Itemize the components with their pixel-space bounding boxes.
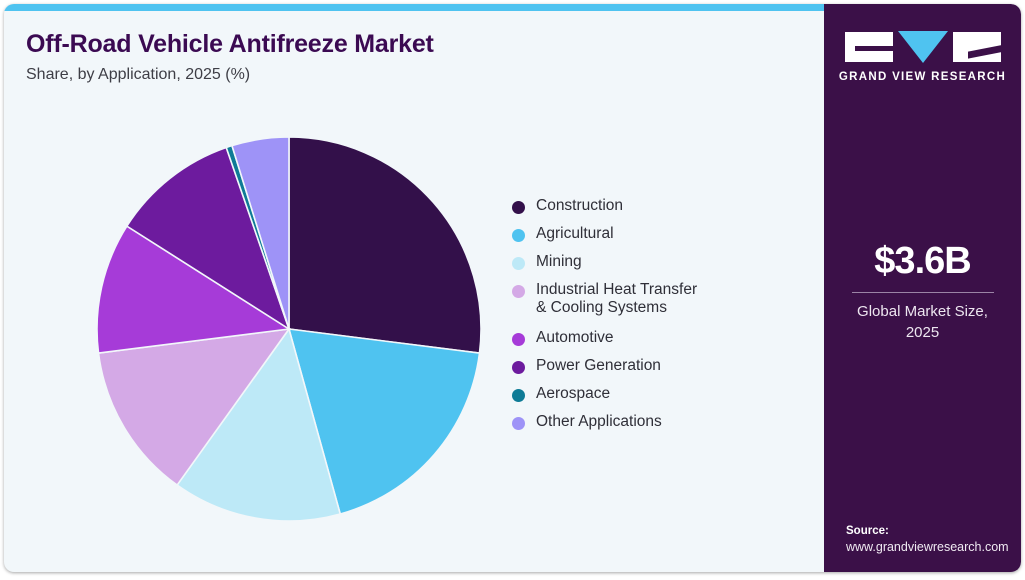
page-title: Off-Road Vehicle Antifreeze Market [26, 30, 434, 59]
market-size-value: $3.6B [824, 240, 1021, 283]
legend-label: Construction [536, 197, 623, 215]
logo-letter-r-icon [953, 32, 1001, 62]
legend-item[interactable]: Other Applications [512, 413, 812, 431]
page-subtitle: Share, by Application, 2025 (%) [26, 66, 250, 84]
legend-item[interactable]: Agricultural [512, 225, 812, 243]
source-url[interactable]: www.grandviewresearch.com [846, 540, 1011, 554]
legend-label: Automotive [536, 329, 614, 347]
legend-swatch-icon [512, 229, 525, 242]
legend-label: Industrial Heat Transfer & Cooling Syste… [536, 281, 697, 317]
legend-swatch-icon [512, 285, 525, 298]
pie-chart-svg [89, 129, 489, 529]
pie-chart [89, 129, 489, 529]
brand-name: GRAND VIEW RESEARCH [824, 71, 1021, 83]
top-accent-bar [4, 4, 824, 11]
legend-label: Power Generation [536, 357, 661, 375]
legend-item[interactable]: Industrial Heat Transfer & Cooling Syste… [512, 281, 812, 317]
source-block: Source: www.grandviewresearch.com [846, 525, 1011, 554]
source-title: Source: [846, 525, 1011, 537]
brand-panel: GRAND VIEW RESEARCH $3.6B Global Market … [824, 4, 1021, 572]
legend-label: Other Applications [536, 413, 662, 431]
logo-marks [824, 32, 1021, 62]
legend-item[interactable]: Construction [512, 197, 812, 215]
chart-card: Off-Road Vehicle Antifreeze Market Share… [4, 4, 1021, 572]
stat-divider [852, 292, 994, 293]
legend-item[interactable]: Automotive [512, 329, 812, 347]
legend-label: Mining [536, 253, 582, 271]
legend-swatch-icon [512, 333, 525, 346]
legend-swatch-icon [512, 201, 525, 214]
legend-item[interactable]: Power Generation [512, 357, 812, 375]
legend-label: Aerospace [536, 385, 610, 403]
pie-slice[interactable] [289, 137, 481, 353]
legend-swatch-icon [512, 389, 525, 402]
logo-triangle-v-icon [898, 31, 948, 63]
legend-item[interactable]: Aerospace [512, 385, 812, 403]
logo-letter-g-icon [845, 32, 893, 62]
legend-item[interactable]: Mining [512, 253, 812, 271]
chart-legend: ConstructionAgriculturalMiningIndustrial… [512, 197, 812, 441]
chart-panel: Off-Road Vehicle Antifreeze Market Share… [4, 11, 824, 572]
legend-swatch-icon [512, 417, 525, 430]
legend-swatch-icon [512, 257, 525, 270]
legend-label: Agricultural [536, 225, 614, 243]
market-size-label: Global Market Size, 2025 [824, 301, 1021, 343]
market-size-stat: $3.6B Global Market Size, 2025 [824, 240, 1021, 343]
gvr-logo: GRAND VIEW RESEARCH [824, 32, 1021, 83]
legend-swatch-icon [512, 361, 525, 374]
